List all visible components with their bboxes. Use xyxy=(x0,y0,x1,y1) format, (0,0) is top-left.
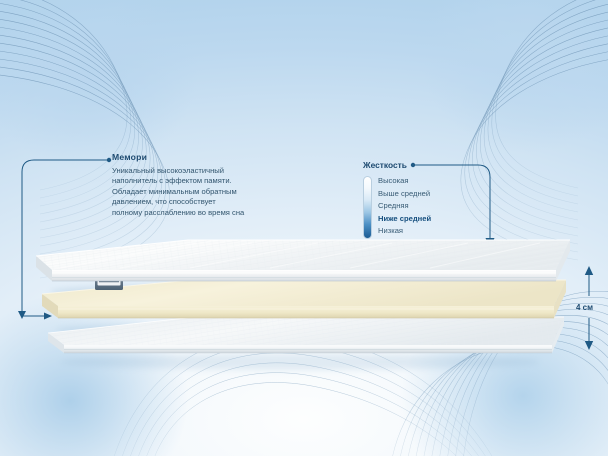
callout-memory-line-3: Обладает минимальным обратным xyxy=(112,187,302,197)
stiffness-option-average[interactable]: Средняя xyxy=(378,200,483,213)
callout-memory-line-1: Уникальный высокоэластичный xyxy=(112,166,302,176)
mattress-layer-top-cover xyxy=(36,240,570,281)
mattress-layer-bottom-cover xyxy=(48,317,564,353)
callout-memory-line-5: полному расслаблению во время сна xyxy=(112,208,302,218)
callout-memory: Мемори Уникальный высокоэластичный напол… xyxy=(112,152,302,218)
stiffness-gradient-bar xyxy=(363,176,372,239)
callout-memory-title: Мемори xyxy=(112,152,302,163)
callout-memory-description: Уникальный высокоэластичный наполнитель … xyxy=(112,166,302,218)
callout-memory-line-4: давлением, что способствует xyxy=(112,197,302,207)
stiffness-option-low[interactable]: Низкая xyxy=(378,225,483,238)
stiffness-option-below-average-selected[interactable]: Ниже средней xyxy=(378,213,483,226)
callout-memory-line-2: наполнитель с эффектом памяти. xyxy=(112,176,302,186)
stiffness-options-list: Высокая Выше средней Средняя Ниже средне… xyxy=(378,175,483,238)
stiffness-scale: Жесткость Высокая Выше средней Средняя Н… xyxy=(363,160,483,238)
shadow-bottom-layer xyxy=(60,354,540,370)
stiffness-option-above-average[interactable]: Выше средней xyxy=(378,188,483,201)
stiffness-title: Жесткость xyxy=(363,160,483,170)
mattress-layer-stack xyxy=(0,0,608,456)
stiffness-option-high[interactable]: Высокая xyxy=(378,175,483,188)
dimension-height-label: 4 см xyxy=(576,303,593,312)
stiffness-scale-body: Высокая Выше средней Средняя Ниже средне… xyxy=(363,175,483,238)
infographic-canvas: Мемори Уникальный высокоэластичный напол… xyxy=(0,0,608,456)
